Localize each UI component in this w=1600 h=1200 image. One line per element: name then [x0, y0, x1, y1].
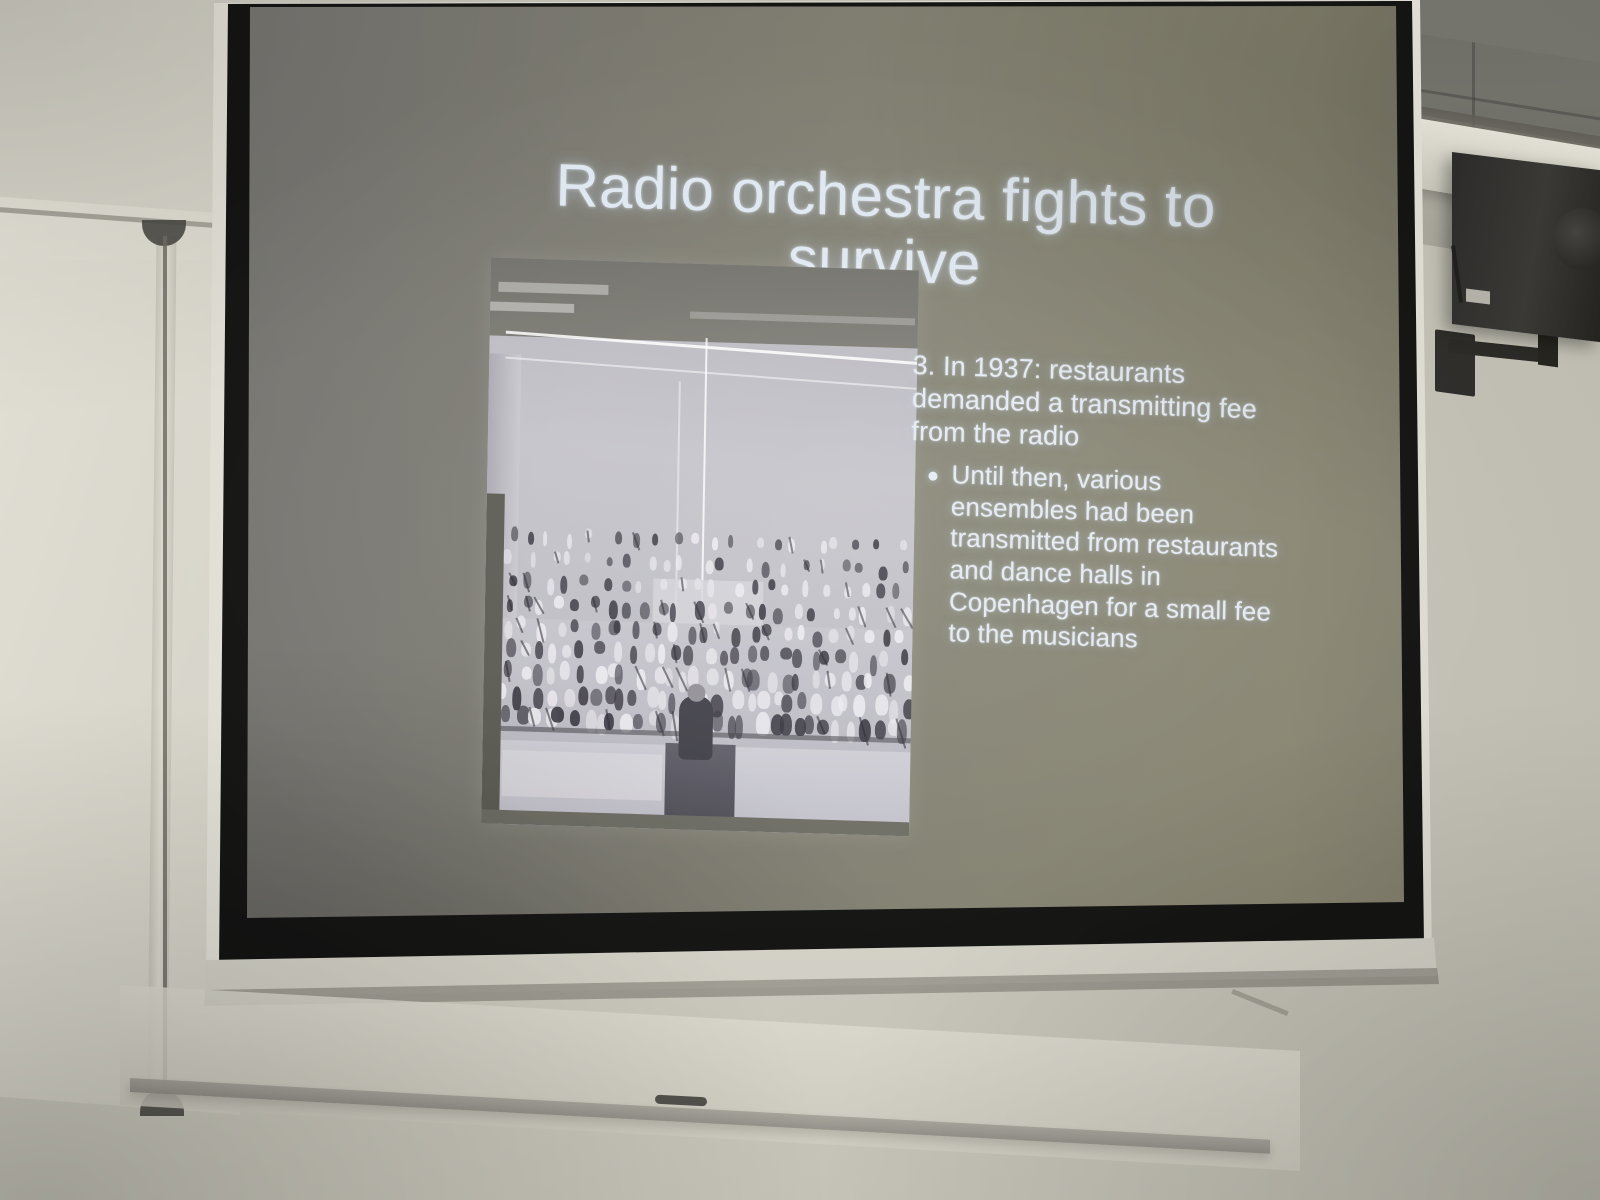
photo-musician-figure: [780, 647, 792, 660]
photo-musician-figure: [594, 641, 606, 654]
photo-musician-figure: [727, 535, 733, 548]
photo-musician-figure: [590, 688, 602, 706]
photo-musician-figure: [649, 557, 657, 571]
photo-musician-figure: [731, 628, 740, 647]
speaker-label-plate: [1466, 289, 1490, 305]
photo-musician-figure: [506, 638, 516, 657]
photo-musician-figure: [547, 690, 558, 707]
photo-musician-figure: [835, 649, 846, 663]
photo-musician-figure: [705, 648, 717, 664]
photo-musician-figure: [848, 651, 858, 672]
photo-musician-figure: [633, 714, 642, 730]
photo-musician-figure: [813, 631, 823, 647]
photo-musician-figure: [768, 579, 775, 590]
photo-musician-figure: [775, 539, 782, 550]
photo-musician-figure: [781, 584, 788, 595]
photo-musician-figure: [804, 715, 815, 735]
photo-musician-figure: [542, 531, 547, 545]
photo-musician-figure: [879, 650, 889, 667]
photo-musician-figure: [748, 693, 757, 712]
photo-musician-figure: [547, 643, 556, 664]
photo-musician-figure: [511, 527, 519, 542]
photo-musician-figure: [691, 533, 699, 544]
photo-musician-figure: [876, 583, 886, 599]
photo-musician-figure: [695, 578, 702, 590]
photo-musician-figure: [752, 579, 759, 594]
photo-musician-figure: [622, 603, 631, 619]
photo-musician-figure: [567, 533, 572, 548]
photo-musician-figure: [622, 581, 631, 592]
photo-musician-figure: [578, 686, 589, 706]
photo-musician-figure: [802, 580, 809, 597]
photo-musician-figure: [683, 645, 693, 666]
photo-musician-figure: [505, 621, 513, 640]
photo-musician-figure: [632, 621, 640, 639]
photo-musician-figure: [533, 688, 543, 708]
photo-musician-figure: [821, 541, 827, 554]
photo-musician-figure: [900, 540, 907, 550]
photo-musician-figure: [558, 622, 566, 636]
photo-musician-figure: [812, 671, 820, 688]
photo-musician-figure: [630, 646, 638, 664]
photo-musician-figure: [842, 559, 851, 571]
photo-musician-figure: [892, 583, 900, 599]
photo-musician-figure: [715, 557, 724, 570]
photo-musician-figure: [724, 602, 733, 614]
photo-musician-figure: [623, 553, 631, 567]
photo-musician-figure: [528, 532, 534, 545]
photo-musician-figure: [613, 620, 620, 634]
photo-musician-figure: [864, 630, 875, 643]
photo-musician-figure: [849, 607, 856, 621]
photo-musician-figure: [824, 584, 831, 597]
photo-musician-figure: [595, 665, 607, 684]
photo-musician-figure: [792, 649, 802, 669]
photo-musician-figure: [781, 695, 793, 713]
photo-stage-ledge: [502, 750, 663, 801]
photo-musician-figure: [606, 557, 612, 567]
photo-musician-figure: [546, 667, 555, 684]
photo-musician-figure: [560, 576, 568, 594]
photo-musician-figure: [869, 655, 876, 677]
photo-musician-figure: [797, 692, 806, 709]
photo-musician-figure: [884, 630, 891, 647]
photo-musician-figure: [852, 540, 859, 550]
photo-musician-figure: [660, 579, 667, 590]
photo-musician-figure: [838, 694, 847, 712]
photo-musician-figure: [797, 624, 804, 640]
photo-musician-figure: [570, 710, 580, 726]
photo-musician-figure: [658, 644, 666, 664]
whiteboard-divider-rail: [163, 236, 167, 1096]
photo-musician-figure: [758, 604, 766, 620]
photo-musician-figure: [584, 553, 590, 563]
slide-bullet-level2-row: Until then, various ensembles had been t…: [907, 458, 1281, 660]
photo-musician-figure: [730, 647, 739, 664]
photo-musician-figure: [834, 608, 841, 620]
photo-musician-figure: [570, 599, 579, 611]
photo-musician-figure: [853, 694, 865, 716]
photo-musician-figure: [772, 608, 782, 624]
photo-musician-figure: [712, 710, 723, 731]
photo-musician-figure: [533, 664, 543, 686]
photo-musician-figure: [708, 604, 717, 620]
photo-musician-figure: [547, 579, 554, 596]
photo-musician-figure: [503, 549, 512, 564]
photo-musician-figure: [563, 550, 570, 565]
photo-musician-figure: [761, 561, 770, 577]
photo-musician-figure: [758, 691, 771, 709]
photo-musician-figure: [535, 641, 543, 659]
photo-musician-figure: [901, 649, 909, 665]
photo-musician-figure: [562, 645, 572, 658]
photo-musician-figure: [719, 650, 728, 666]
photo-musician-figure: [614, 688, 624, 710]
photo-musician-figure: [667, 622, 678, 642]
photo-musician-figure: [564, 688, 575, 707]
bullet-point-icon: [928, 471, 937, 480]
photo-musician-figure: [664, 559, 671, 571]
photo-musician-figure: [706, 560, 714, 574]
photo-musician-figure: [658, 691, 667, 710]
photo-musician-figure: [752, 626, 761, 642]
photo-musician-figure: [615, 531, 623, 545]
photo-musician-figure: [732, 690, 744, 709]
photo-musician-figure: [571, 619, 580, 633]
photo-musician-figure: [579, 574, 588, 585]
photo-musician-figure: [894, 630, 903, 644]
photo-musician-figure: [829, 537, 837, 549]
photo-musician-figure: [828, 629, 839, 643]
lecture-room-scene: Radio orchestra fights to survive: [0, 0, 1600, 1200]
photo-musician-figure: [501, 705, 510, 722]
photo-musician-figure: [862, 583, 870, 597]
photo-musician-figure: [645, 644, 655, 663]
slide-content: Radio orchestra fights to survive: [250, 6, 1402, 933]
photo-musician-figure: [707, 668, 720, 686]
photo-musician-figure: [842, 672, 852, 692]
photo-musician-figure: [854, 562, 863, 573]
photo-musician-figure: [609, 600, 619, 619]
photo-musician-figure: [748, 645, 758, 662]
photo-musician-figure: [807, 608, 815, 621]
slide-bullet-level2: Until then, various ensembles had been t…: [948, 459, 1281, 660]
photo-musician-figure: [688, 626, 697, 645]
slide-bullet-level1: 3. In 1937: restaurants demanded a trans…: [911, 349, 1283, 460]
photo-musician-figure: [560, 661, 570, 680]
photo-musician-figure: [707, 579, 714, 597]
photo-musician-figure: [640, 602, 650, 620]
photo-musician-figure: [747, 669, 760, 691]
whiteboard-panel-left: [0, 196, 240, 1115]
slide-body-text: 3. In 1937: restaurants demanded a trans…: [907, 349, 1283, 660]
photo-musician-figure: [522, 666, 532, 680]
photo-musician-figure: [780, 713, 792, 735]
photo-musician-figure: [574, 640, 583, 658]
photo-musician-figure: [878, 566, 887, 581]
historical-orchestra-photograph: [481, 257, 919, 836]
photo-musician-figure: [767, 672, 777, 694]
photo-musician-figure: [604, 578, 613, 591]
photo-musician-figure: [781, 563, 787, 577]
photo-musician-figure: [784, 627, 793, 641]
photo-musician-figure: [864, 673, 872, 689]
photo-musician-figure: [652, 534, 658, 546]
photo-musician-figure: [613, 641, 622, 662]
photo-musician-figure: [903, 700, 915, 720]
photo-musician-figure: [791, 674, 799, 692]
photo-musician-figure: [530, 552, 536, 568]
photo-musician-figure: [735, 583, 745, 597]
photo-musician-figure: [757, 537, 764, 547]
photo-musician-figure: [875, 695, 888, 717]
photo-musician-figure: [615, 664, 623, 684]
photo-musician-figure: [810, 694, 823, 715]
photo-musician-figure: [795, 604, 803, 619]
photo-musician-figure: [670, 603, 677, 622]
photo-conductor-figure: [678, 695, 713, 760]
photo-musician-figure: [551, 707, 565, 723]
photo-musician-figure: [627, 690, 637, 706]
photo-musician-figure: [746, 558, 752, 573]
photo-musician-figure: [712, 537, 718, 550]
photo-musician-figure: [592, 623, 601, 640]
photo-musician-figure: [756, 712, 770, 736]
photo-musician-figure: [760, 646, 769, 661]
photo-musician-figure: [676, 555, 682, 570]
photo-musician-figure: [675, 532, 683, 545]
photo-musician-figure: [873, 539, 879, 549]
photo-musician-figure: [554, 595, 564, 608]
photo-musician-figure: [635, 581, 641, 593]
photo-musician-figure: [903, 675, 914, 691]
photo-musician-figure: [576, 665, 584, 683]
